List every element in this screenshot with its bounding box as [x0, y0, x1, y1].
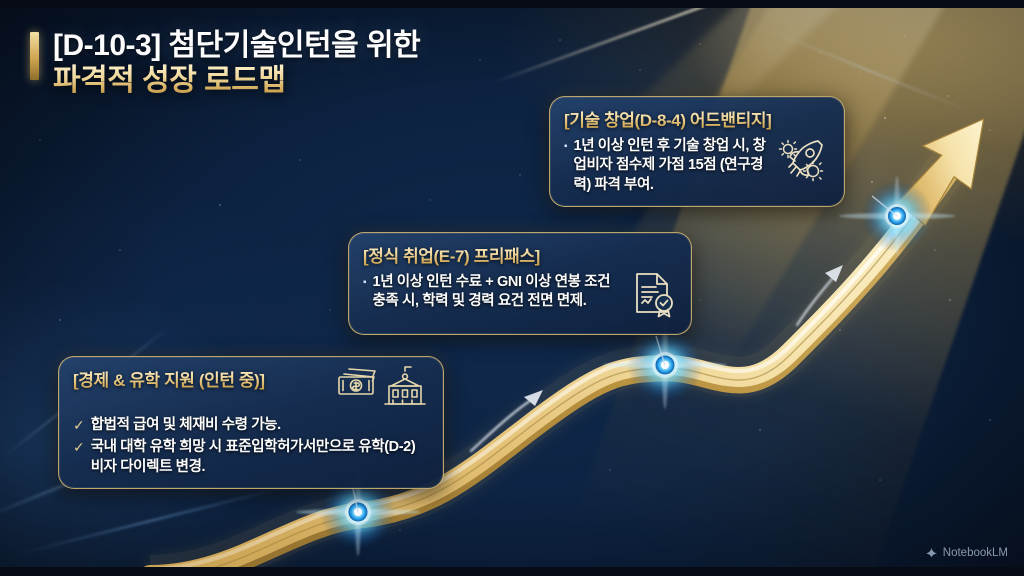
card-support-bullet-2: ✓ 국내 대학 유학 희망 시 표준입학허가서만으로 유학(D-2) 비자 다이…	[73, 438, 429, 477]
title-accent-bar	[30, 32, 39, 80]
square-bullet-icon: ▪	[564, 137, 568, 153]
rocket-gear-icon	[778, 134, 830, 189]
certificate-icon	[631, 270, 677, 323]
square-bullet-icon: ▪	[363, 273, 367, 289]
support-icons-group	[337, 366, 429, 413]
check-bullet-icon: ✓	[73, 416, 85, 434]
card-startup-heading: [기술 창업(D-8-4) 어드밴티지]	[564, 106, 830, 131]
check-bullet-icon: ✓	[73, 438, 85, 456]
title-line-2: 파격적 성장 로드맵	[53, 63, 420, 98]
page-title: [D-10-3] 첨단기술인턴을 위한 파격적 성장 로드맵	[30, 28, 420, 99]
callout-card-support[interactable]: [경제 & 유학 지원 (인턴 중)]	[58, 356, 444, 489]
watermark: NotebookLM	[925, 546, 1008, 559]
title-line-1: [D-10-3] 첨단기술인턴을 위한	[53, 28, 420, 63]
card-support-bullet-1: ✓ 합법적 급여 및 체재비 수령 가능.	[73, 416, 429, 435]
card-support-heading: [경제 & 유학 지원 (인턴 중)]	[73, 366, 331, 391]
money-icon	[339, 369, 375, 394]
university-icon	[385, 367, 425, 404]
card-employment-bullet-1: ▪ 1년 이상 인턴 수료 + GNI 이상 연봉 조건 충족 시, 학력 및 …	[363, 273, 625, 312]
watermark-label: NotebookLM	[943, 547, 1008, 559]
callout-card-startup[interactable]: [기술 창업(D-8-4) 어드밴티지] ▪ 1년 이상 인턴 후 기술 창업 …	[549, 96, 845, 207]
infographic-slide: [D-10-3] 첨단기술인턴을 위한 파격적 성장 로드맵 [기술 창업(D-…	[0, 0, 1024, 576]
card-employment-heading: [정식 취업(E-7) 프리패스]	[363, 242, 677, 267]
notebooklm-logo-icon	[925, 546, 938, 559]
card-startup-bullet-1: ▪ 1년 이상 인턴 후 기술 창업 시, 창업비자 점수제 가점 15점 (연…	[564, 137, 772, 195]
letterbox-top	[0, 0, 1024, 8]
callout-card-employment[interactable]: [정식 취업(E-7) 프리패스] ▪ 1년 이상 인턴 수료 + GNI 이상…	[348, 232, 692, 335]
letterbox-bottom	[0, 567, 1024, 576]
